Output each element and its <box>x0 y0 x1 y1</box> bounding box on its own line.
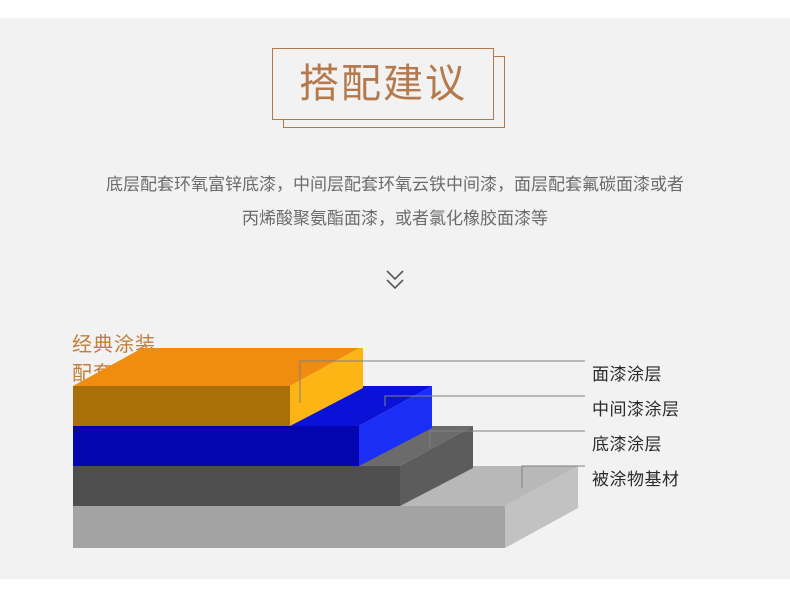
label-substrate: 被涂物基材 <box>592 465 680 490</box>
title-frame-front: 搭配建议 <box>272 48 494 120</box>
label-topcoat: 面漆涂层 <box>592 360 662 385</box>
label-midcoat: 中间漆涂层 <box>592 395 680 420</box>
double-chevron-down-icon <box>383 266 407 296</box>
page-root: 搭配建议 底层配套环氧富锌底漆，中间层配套环氧云铁中间漆，面层配套氟碳面漆或者 … <box>0 18 790 579</box>
page-title: 搭配建议 <box>273 49 493 121</box>
description-line-2: 丙烯酸聚氨酯面漆，或者氯化橡胶面漆等 <box>60 202 730 236</box>
coating-stack-diagram <box>0 348 790 573</box>
label-primer: 底漆涂层 <box>592 430 662 455</box>
description-line-1: 底层配套环氧富锌底漆，中间层配套环氧云铁中间漆，面层配套氟碳面漆或者 <box>60 168 730 202</box>
description-paragraph: 底层配套环氧富锌底漆，中间层配套环氧云铁中间漆，面层配套氟碳面漆或者 丙烯酸聚氨… <box>60 168 730 236</box>
title-block: 搭配建议 <box>0 40 790 136</box>
